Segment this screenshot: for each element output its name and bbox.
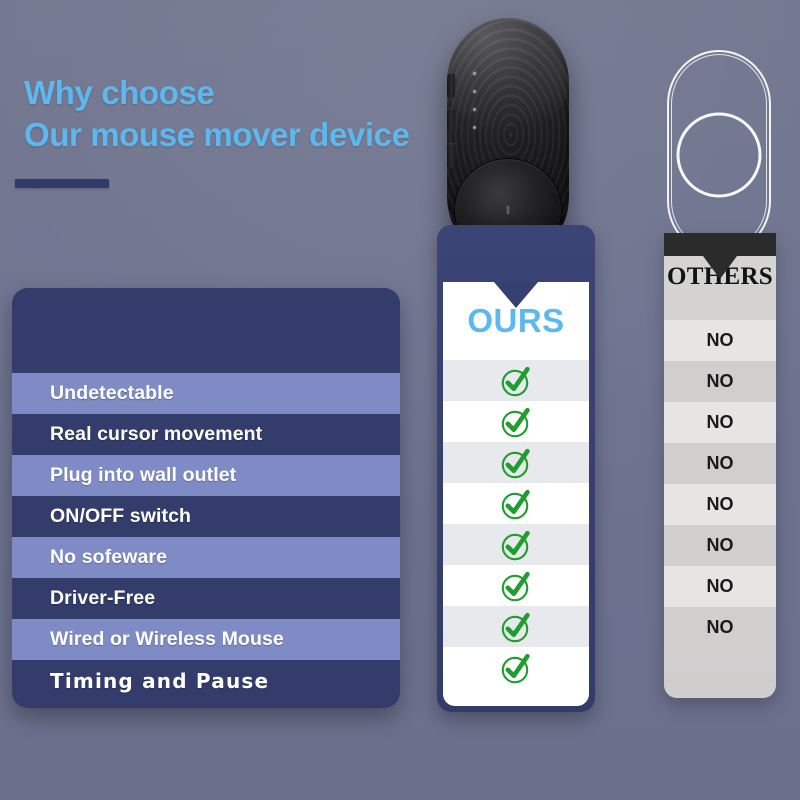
device-led-3 [473, 108, 476, 111]
others-value: NO [707, 371, 734, 392]
others-value: NO [707, 412, 734, 433]
check-icon [498, 445, 534, 481]
feature-label: Undetectable [50, 382, 174, 405]
others-value: NO [707, 330, 734, 351]
ours-row [443, 647, 589, 688]
ours-value-rows [443, 360, 589, 688]
ours-column-sheet: OURS [443, 282, 589, 706]
others-device-ring [677, 113, 762, 198]
device-side-button-1 [447, 73, 455, 98]
title-accent-bar [15, 179, 109, 188]
ours-column: OURS [437, 225, 595, 712]
others-value: NO [707, 494, 734, 515]
ours-column-notch [494, 282, 538, 308]
feature-row: Undetectable [12, 373, 400, 414]
ours-row [443, 565, 589, 606]
feature-row: Wired or Wireless Mouse [12, 619, 400, 660]
feature-row: No sofeware [12, 537, 400, 578]
feature-label: ON/OFF switch [50, 505, 191, 528]
others-value: NO [707, 617, 734, 638]
device-led-4 [473, 126, 476, 129]
others-row: NO [664, 402, 776, 443]
check-icon [498, 568, 534, 604]
feature-list-panel: UndetectableReal cursor movementPlug int… [12, 288, 400, 708]
others-column-notch [703, 256, 737, 279]
feature-panel-header-space [12, 288, 400, 373]
feature-rows: UndetectableReal cursor movementPlug int… [12, 373, 400, 701]
feature-label: No sofeware [50, 546, 167, 569]
ours-row [443, 483, 589, 524]
others-row: NO [664, 361, 776, 402]
check-icon [498, 404, 534, 440]
ours-row [443, 524, 589, 565]
feature-row: ON/OFF switch [12, 496, 400, 537]
device-button-dot [507, 206, 510, 215]
feature-row: Plug into wall outlet [12, 455, 400, 496]
others-row: NO [664, 566, 776, 607]
feature-label: Driver-Free [50, 587, 155, 610]
others-row: NO [664, 484, 776, 525]
device-side-button-3 [447, 143, 455, 168]
comparison-infographic: Why choose Our mouse mover device Undete… [0, 0, 800, 800]
feature-label: Real cursor movement [50, 423, 262, 446]
device-led-1 [473, 72, 476, 75]
others-row: NO [664, 607, 776, 648]
feature-row: Driver-Free [12, 578, 400, 619]
others-row: NO [664, 443, 776, 484]
others-value-rows: NONONONONONONONO [664, 320, 776, 648]
others-value: NO [707, 453, 734, 474]
feature-label: Timing and Pause [50, 669, 269, 693]
feature-label: Wired or Wireless Mouse [50, 628, 284, 651]
others-value: NO [707, 535, 734, 556]
ours-row [443, 401, 589, 442]
feature-label: Plug into wall outlet [50, 464, 236, 487]
others-value: NO [707, 576, 734, 597]
check-icon [498, 650, 534, 686]
device-side-button-2 [447, 108, 455, 133]
others-column: OTHERS NONONONONONONONO [664, 233, 776, 698]
others-device-image [667, 50, 771, 255]
others-row: NO [664, 525, 776, 566]
ours-row [443, 606, 589, 647]
ours-row [443, 442, 589, 483]
feature-row: Timing and Pause [12, 660, 400, 701]
feature-row: Real cursor movement [12, 414, 400, 455]
page-title: Why choose Our mouse mover device [24, 72, 410, 156]
others-row: NO [664, 320, 776, 361]
ours-row [443, 360, 589, 401]
check-icon [498, 527, 534, 563]
check-icon [498, 486, 534, 522]
check-icon [498, 609, 534, 645]
device-led-2 [473, 90, 476, 93]
check-icon [498, 363, 534, 399]
